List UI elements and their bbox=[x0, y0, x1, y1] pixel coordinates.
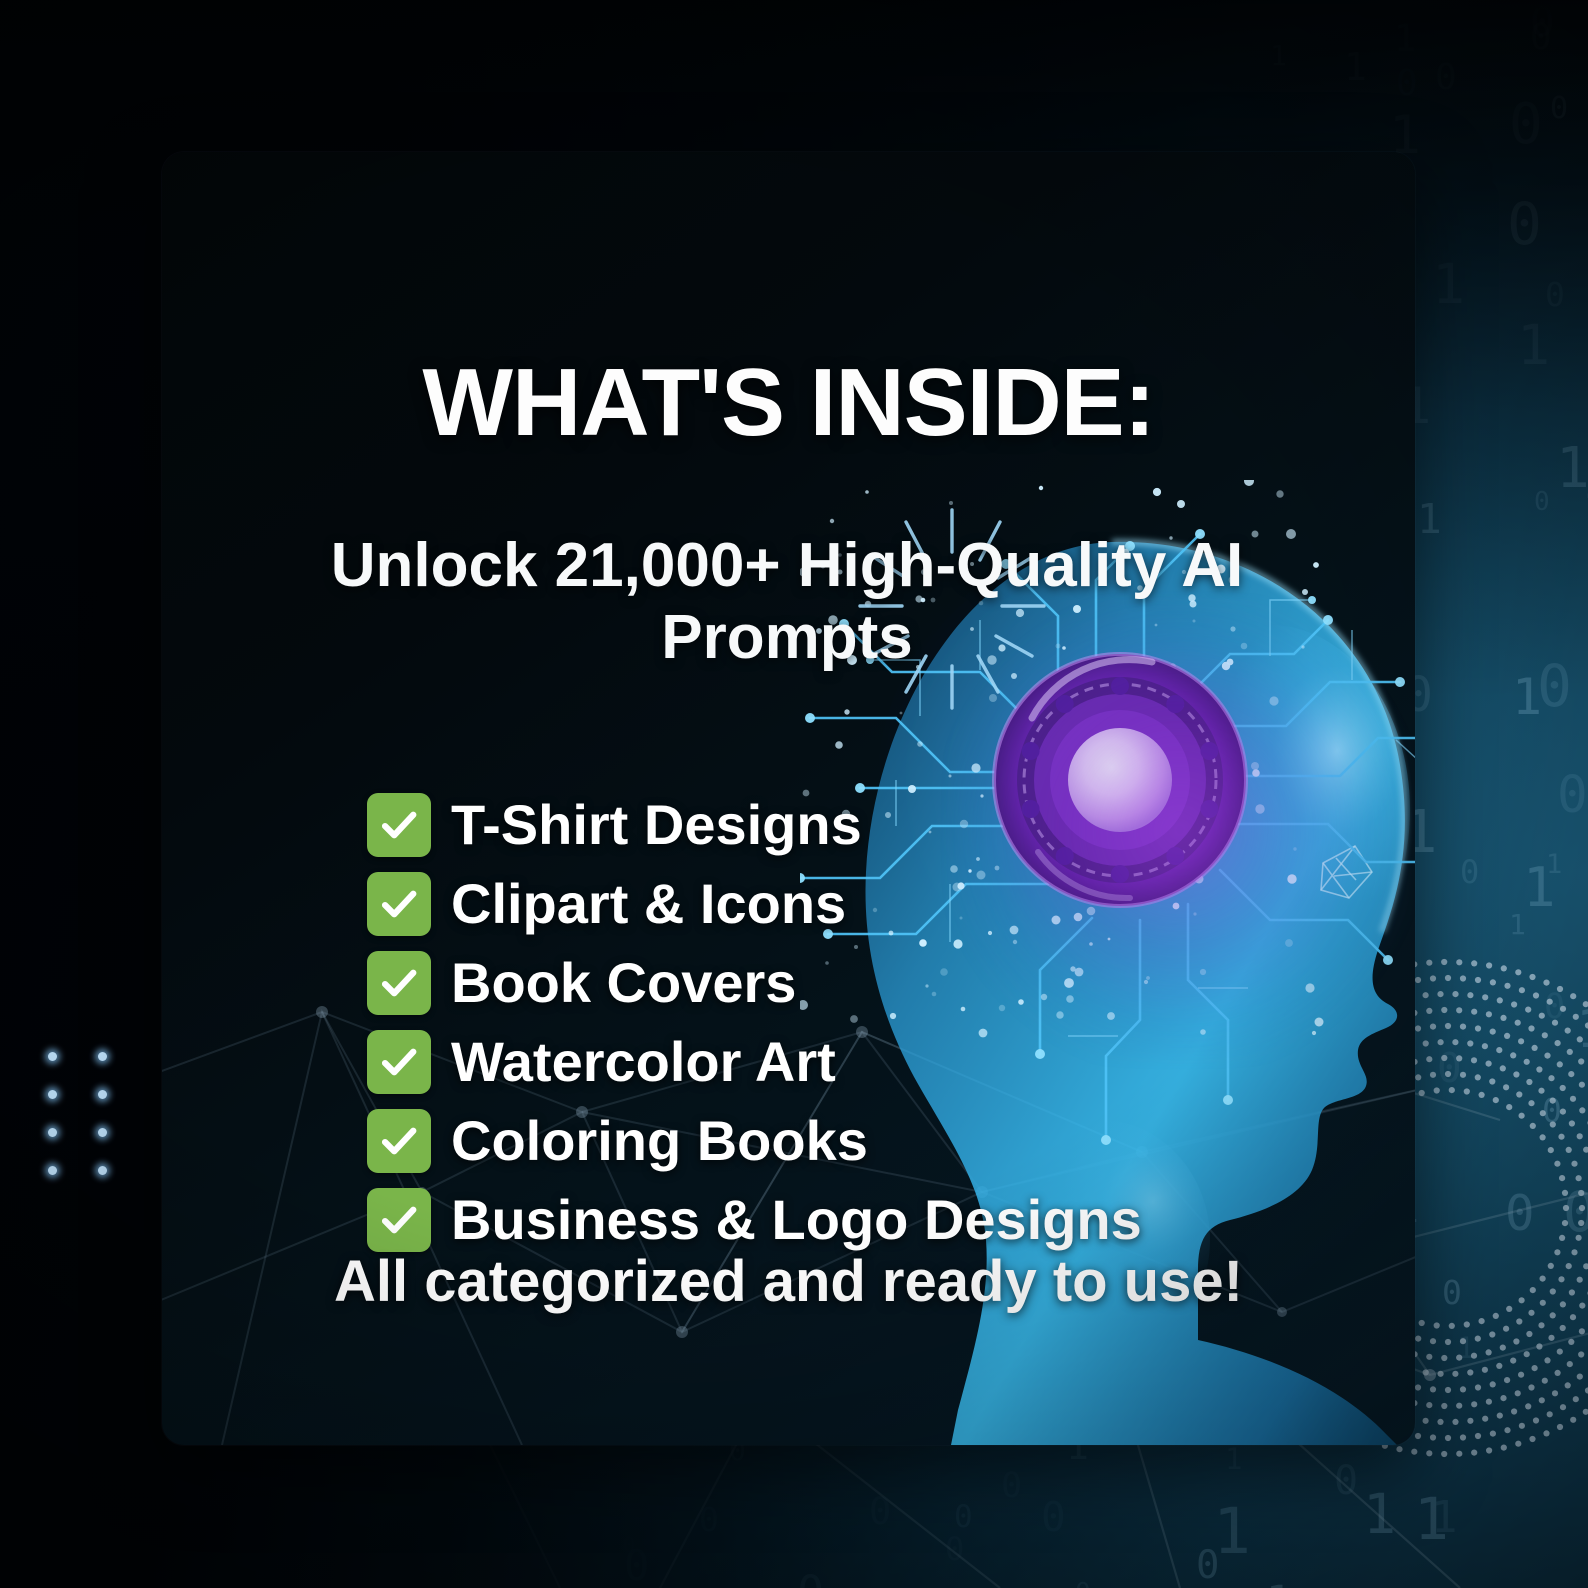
poster-canvas: 1100011000011010000111010000110110110011… bbox=[0, 0, 1588, 1588]
vignette-overlay bbox=[0, 0, 1588, 1588]
